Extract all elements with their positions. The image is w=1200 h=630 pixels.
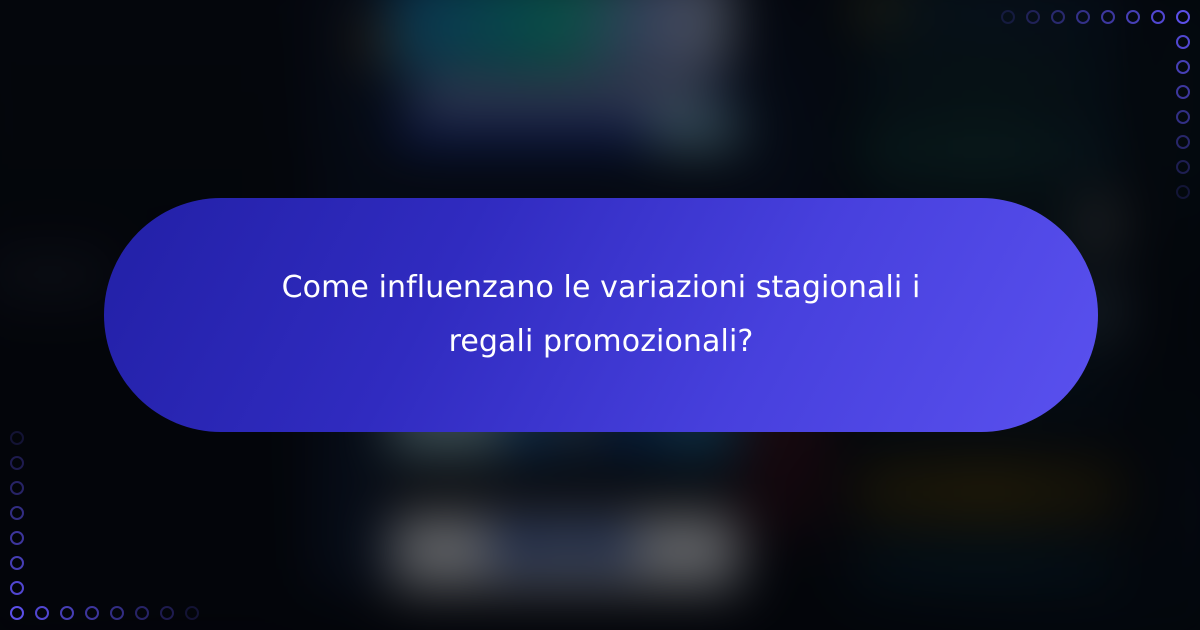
decoration-dot [1176,10,1190,24]
decoration-dot [1126,10,1140,24]
decoration-dot [1176,60,1190,74]
decoration-dot [185,606,199,620]
question-text: Come influenzano le variazioni stagional… [221,261,981,369]
decoration-dot [1176,185,1190,199]
decoration-dot [60,606,74,620]
background-panel-row [855,540,1125,588]
decoration-dot [10,456,24,470]
background-panel-accent [860,0,892,22]
background-white-button-left [410,525,490,565]
decoration-dot [1101,10,1115,24]
decoration-dot [85,606,99,620]
background-panel-row [855,120,1125,178]
background-black-band [390,468,740,508]
decoration-dot [10,506,24,520]
background-left-glow [0,250,110,300]
background-panel-row [855,52,1125,104]
decoration-dot [10,481,24,495]
question-card: Come influenzano le variazioni stagional… [104,198,1098,432]
decoration-dot [1176,35,1190,49]
decoration-dot [10,606,24,620]
decoration-dot [1001,10,1015,24]
decoration-dot [1151,10,1165,24]
background-panel-accent [1080,195,1120,253]
decoration-dot [160,606,174,620]
decoration-dot [10,581,24,595]
decoration-dot [35,606,49,620]
decoration-dot [10,556,24,570]
background-blue-button-primary [496,532,551,558]
decoration-dot [1051,10,1065,24]
decoration-dot [1176,110,1190,124]
decoration-dot [1076,10,1090,24]
decoration-dot [10,431,24,445]
decoration-dot [1176,160,1190,174]
background-hero-banner [390,0,730,73]
decoration-dot [1026,10,1040,24]
decoration-dot [10,531,24,545]
decoration-dot [1176,85,1190,99]
share-card-canvas: Come influenzano le variazioni stagional… [0,0,1200,630]
background-white-button-right [648,525,730,565]
decoration-dot [1176,135,1190,149]
decoration-dot [110,606,124,620]
background-blue-button-secondary [580,532,625,558]
background-panel-row [855,460,1125,522]
decoration-dot [135,606,149,620]
